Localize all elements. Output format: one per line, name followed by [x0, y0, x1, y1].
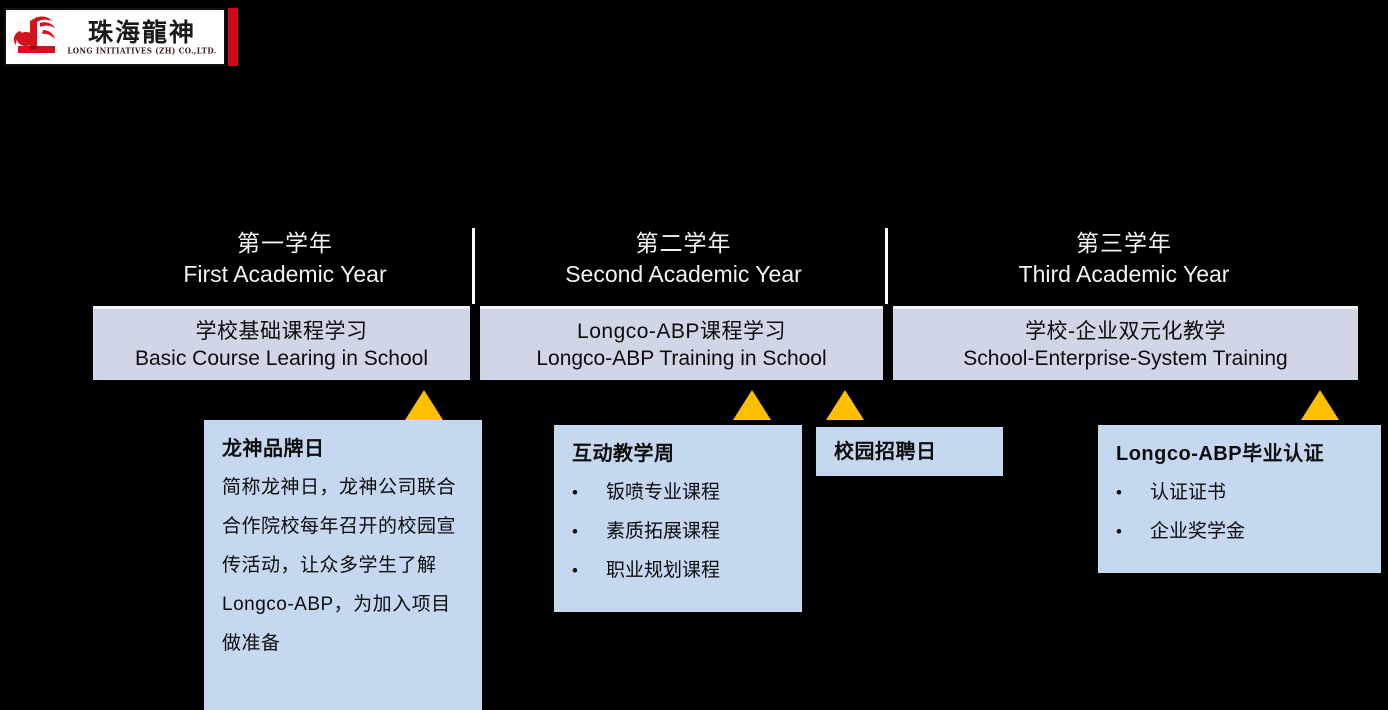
card-title: 互动教学周	[572, 439, 784, 469]
detail-card-graduation-certification[interactable]: Longco-ABP毕业认证 • 认证证书 • 企业奖学金	[1098, 425, 1381, 573]
year-column-third: 第三学年 Third Academic Year	[890, 228, 1358, 304]
detail-card-interactive-week[interactable]: 互动教学周 • 钣喷专业课程 • 素质拓展课程 • 职业规划课程	[554, 425, 802, 612]
detail-card-campus-recruitment[interactable]: 校园招聘日	[816, 427, 1003, 476]
card-title: Longco-ABP毕业认证	[1116, 439, 1363, 469]
logo-accent-bar	[228, 8, 238, 66]
phase-bar-basic-course[interactable]: 学校基础课程学习 Basic Course Learing in School	[93, 306, 470, 380]
phase-label-cn: Longco-ABP课程学习	[577, 318, 786, 345]
year-label-cn: 第一学年	[237, 228, 333, 259]
bullet-dot-icon: •	[1116, 512, 1150, 551]
marker-arrow-graduation-icon	[1301, 390, 1339, 420]
year-divider-1	[472, 228, 475, 304]
year-label-cn: 第二学年	[636, 228, 732, 259]
list-item-label: 职业规划课程	[606, 551, 720, 590]
year-label-en: First Academic Year	[183, 259, 386, 289]
list-item-label: 钣喷专业课程	[606, 473, 720, 512]
card-title: 龙神品牌日	[222, 434, 464, 464]
bullet-dot-icon: •	[572, 551, 606, 590]
bullet-dot-icon: •	[1116, 473, 1150, 512]
year-label-en: Third Academic Year	[1019, 259, 1230, 289]
dragon-l-logo-icon	[10, 13, 62, 61]
logo-wordmark: 珠海龍神 LONG INITIATIVES (ZH) CO.,LTD.	[62, 19, 224, 55]
list-item-label: 企业奖学金	[1150, 512, 1245, 551]
list-item: • 认证证书	[1116, 473, 1363, 512]
marker-arrow-interactive-week-icon	[733, 390, 771, 420]
card-title: 校园招聘日	[834, 437, 985, 467]
phase-bar-school-enterprise[interactable]: 学校-企业双元化教学 School-Enterprise-System Trai…	[893, 306, 1358, 380]
marker-arrow-brand-day-icon	[405, 390, 443, 420]
phase-bar-row: 学校基础课程学习 Basic Course Learing in School …	[93, 306, 1358, 380]
phase-label-en: Basic Course Learing in School	[135, 345, 428, 372]
card-bullet-list: • 钣喷专业课程 • 素质拓展课程 • 职业规划课程	[572, 473, 784, 590]
list-item: • 职业规划课程	[572, 551, 784, 590]
bullet-dot-icon: •	[572, 473, 606, 512]
year-column-second: 第二学年 Second Academic Year	[477, 228, 890, 304]
list-item: • 素质拓展课程	[572, 512, 784, 551]
list-item-label: 认证证书	[1150, 473, 1226, 512]
phase-label-cn: 学校-企业双元化教学	[1025, 318, 1226, 345]
phase-label-en: School-Enterprise-System Training	[963, 345, 1287, 372]
year-label-cn: 第三学年	[1076, 228, 1172, 259]
card-paragraph: 简称龙神日，龙神公司联合合作院校每年召开的校园宣传活动，让众多学生了解Longc…	[222, 468, 464, 663]
logo-name-en: LONG INITIATIVES (ZH) CO.,LTD.	[67, 45, 216, 55]
marker-arrow-campus-recruitment-icon	[826, 390, 864, 420]
company-logo: 珠海龍神 LONG INITIATIVES (ZH) CO.,LTD.	[4, 8, 226, 66]
bullet-dot-icon: •	[572, 512, 606, 551]
year-label-en: Second Academic Year	[565, 259, 802, 289]
list-item-label: 素质拓展课程	[606, 512, 720, 551]
year-divider-2	[885, 228, 888, 304]
list-item: • 企业奖学金	[1116, 512, 1363, 551]
detail-card-brand-day[interactable]: 龙神品牌日 简称龙神日，龙神公司联合合作院校每年召开的校园宣传活动，让众多学生了…	[204, 420, 482, 710]
phase-bar-longco-abp-training[interactable]: Longco-ABP课程学习 Longco-ABP Training in Sc…	[480, 306, 883, 380]
phase-label-cn: 学校基础课程学习	[196, 318, 368, 345]
phase-label-en: Longco-ABP Training in School	[536, 345, 826, 372]
academic-year-header-row: 第一学年 First Academic Year 第二学年 Second Aca…	[93, 228, 1358, 304]
year-column-first: 第一学年 First Academic Year	[93, 228, 477, 304]
logo-name-cn: 珠海龍神	[88, 19, 196, 46]
card-bullet-list: • 认证证书 • 企业奖学金	[1116, 473, 1363, 551]
list-item: • 钣喷专业课程	[572, 473, 784, 512]
